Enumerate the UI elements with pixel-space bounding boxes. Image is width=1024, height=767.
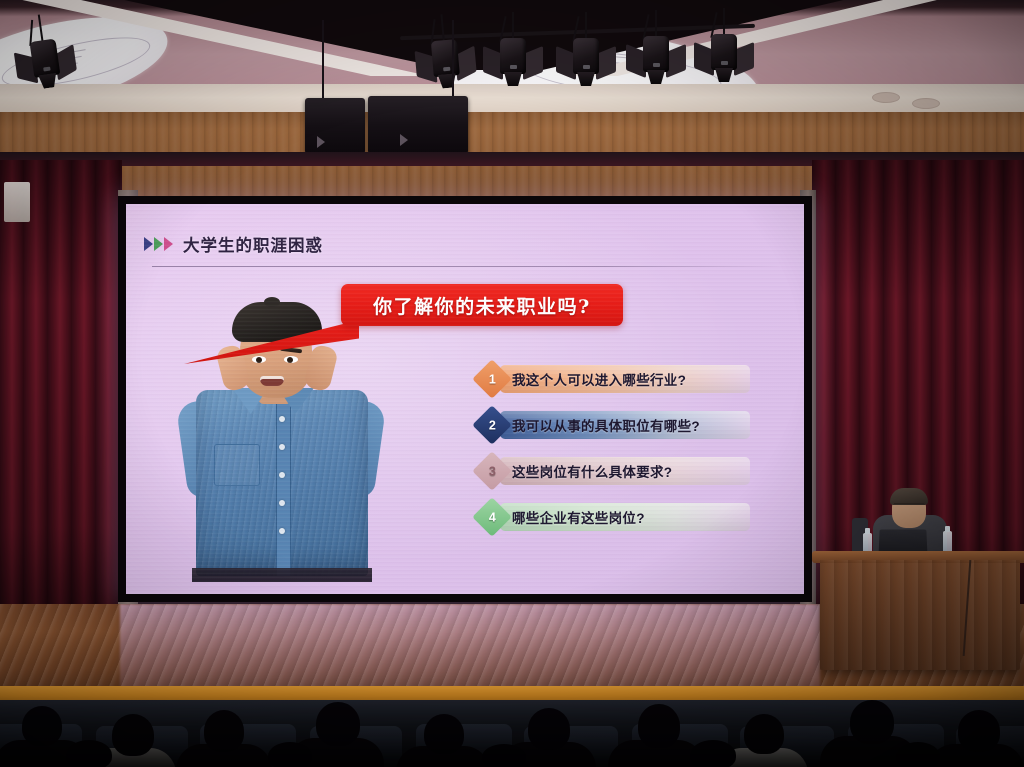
- audience-head: [958, 710, 1000, 752]
- stage-light-icon: [570, 38, 604, 90]
- stage-light-icon: [708, 34, 742, 86]
- audience-head: [22, 706, 62, 746]
- photo-base-shadow: [192, 568, 372, 582]
- wall-vent: [4, 182, 30, 222]
- stage-light-icon: [497, 38, 531, 90]
- audience-head: [482, 744, 526, 767]
- chevron-right-icon: [144, 237, 153, 251]
- question-text: 我可以从事的具体职位有哪些?: [512, 415, 700, 435]
- question-text: 我这个人可以进入哪些行业?: [512, 369, 686, 389]
- question-text: 这些岗位有什么具体要求?: [512, 461, 672, 481]
- audience-head: [850, 700, 894, 744]
- slide-header: 大学生的职涯困惑: [144, 232, 323, 256]
- question-item-2: 2 我可以从事的具体职位有哪些?: [478, 410, 760, 440]
- audience-area: [0, 700, 1024, 767]
- auditorium-scene-photo: 大学生的职涯困惑: [0, 0, 1024, 767]
- speaker-hanger: [452, 20, 454, 100]
- speaker-hanger: [322, 20, 324, 100]
- smoke-detector-icon: [912, 98, 940, 109]
- presenter-podium: [820, 560, 1020, 670]
- audience-head: [316, 702, 360, 746]
- audience-head: [424, 714, 464, 754]
- photo-mouth: [260, 376, 284, 386]
- question-number: 1: [489, 372, 496, 386]
- stage-light-icon: [640, 36, 674, 88]
- question-item-4: 4 哪些企业有这些岗位?: [478, 502, 760, 532]
- audience-head: [896, 742, 940, 767]
- projection-screen: 大学生的职涯困惑: [118, 196, 812, 602]
- glasses-icon: [894, 503, 924, 510]
- question-number: 2: [489, 418, 496, 432]
- chevron-group: [144, 237, 173, 251]
- audience-head: [528, 708, 570, 750]
- podium-top-surface: [812, 551, 1024, 563]
- question-number: 3: [489, 464, 496, 478]
- question-text: 哪些企业有这些岗位?: [512, 507, 645, 527]
- question-number: 4: [489, 510, 496, 524]
- audience-head: [690, 740, 736, 767]
- chevron-right-icon: [164, 237, 173, 251]
- audience-head: [268, 742, 312, 767]
- title-divider: [152, 266, 780, 267]
- audience-head: [66, 740, 112, 767]
- audience-head: [638, 704, 680, 748]
- audience-head: [744, 714, 784, 754]
- question-item-1: 1 我这个人可以进入哪些行业?: [478, 364, 760, 394]
- speech-bubble-text: 你了解你的未来职业吗?: [373, 292, 591, 319]
- stage-light-icon: [27, 38, 68, 94]
- smoke-detector-icon: [872, 92, 900, 103]
- stage-curtain-left: [0, 160, 122, 630]
- presentation-slide: 大学生的职涯困惑: [126, 204, 804, 594]
- question-item-3: 3 这些岗位有什么具体要求?: [478, 456, 760, 486]
- stage-light-icon: [428, 39, 466, 94]
- question-list: 1 我这个人可以进入哪些行业? 2 我可以从事的具体职位有哪些? 3: [478, 364, 760, 548]
- chevron-right-icon: [154, 237, 163, 251]
- audience-head: [112, 714, 154, 756]
- ceiling-speaker-icon: [368, 96, 468, 154]
- slide-title: 大学生的职涯困惑: [183, 232, 323, 256]
- audience-head: [204, 710, 244, 752]
- photo-shirt-pocket: [214, 444, 260, 486]
- speech-bubble: 你了解你的未来职业吗?: [341, 284, 623, 326]
- ceiling-speaker-icon: [305, 98, 365, 154]
